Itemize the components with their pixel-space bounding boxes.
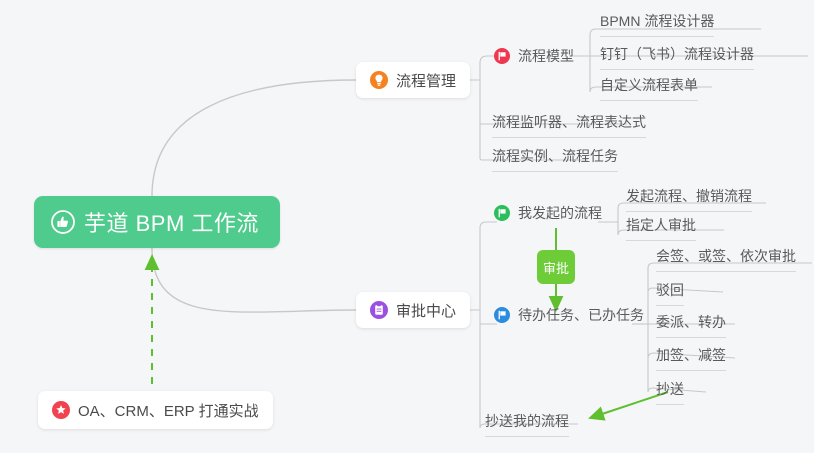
- mindmap-canvas: 芋道 BPM 工作流 流程管理 流程模型 BPMN 流程设计器 钉钉（飞书: [0, 0, 814, 453]
- root-node[interactable]: 芋道 BPM 工作流: [34, 196, 280, 248]
- lightbulb-icon: [370, 71, 388, 89]
- root-label: 芋道 BPM 工作流: [84, 206, 259, 238]
- leaf-label: 钉钉（飞书）流程设计器: [600, 44, 754, 64]
- node-todo-done-tasks[interactable]: 待办任务、已办任务: [494, 305, 644, 330]
- branch-approval-center[interactable]: 审批中心: [356, 292, 470, 328]
- node-label: 流程模型: [518, 46, 574, 66]
- leaf-assigned-approver[interactable]: 指定人审批: [626, 215, 696, 241]
- branch-label: 审批中心: [396, 300, 456, 321]
- leaf-label: 发起流程、撤销流程: [626, 186, 752, 206]
- leaf-label: 流程监听器、流程表达式: [492, 112, 646, 132]
- leaf-dingtalk-designer[interactable]: 钉钉（飞书）流程设计器: [600, 44, 754, 70]
- leaf-label: 加签、减签: [656, 345, 726, 365]
- leaf-bpmn-designer[interactable]: BPMN 流程设计器: [600, 11, 714, 37]
- node-my-started-processes[interactable]: 我发起的流程: [494, 203, 602, 228]
- bottom-note-card[interactable]: OA、CRM、ERP 打通实战: [38, 391, 273, 429]
- leaf-delegate-transfer[interactable]: 委派、转办: [656, 312, 726, 338]
- leaf-label: 会签、或签、依次审批: [656, 246, 796, 266]
- leaf-label: 抄送: [656, 379, 684, 399]
- leaf-countersign[interactable]: 会签、或签、依次审批: [656, 246, 796, 272]
- bottom-note-label: OA、CRM、ERP 打通实战: [78, 400, 259, 421]
- flag-blue-icon: [494, 307, 510, 323]
- leaf-process-listener[interactable]: 流程监听器、流程表达式: [492, 112, 646, 138]
- leaf-label: 指定人审批: [626, 215, 696, 235]
- leaf-label: 流程实例、流程任务: [492, 146, 618, 166]
- branch-process-management[interactable]: 流程管理: [356, 62, 470, 98]
- leaf-add-remove-sign[interactable]: 加签、减签: [656, 345, 726, 371]
- leaf-label: 委派、转办: [656, 312, 726, 332]
- leaf-label: 自定义流程表单: [600, 75, 698, 95]
- node-process-model[interactable]: 流程模型: [494, 46, 574, 71]
- flag-red-icon: [494, 48, 510, 64]
- leaf-label: 抄送我的流程: [485, 411, 569, 431]
- leaf-cc[interactable]: 抄送: [656, 379, 684, 405]
- leaf-custom-form[interactable]: 自定义流程表单: [600, 75, 698, 101]
- approval-chip: 审批: [537, 250, 575, 284]
- thumbs-up-icon: [51, 210, 75, 234]
- flag-green-icon: [494, 205, 510, 221]
- approval-chip-label: 审批: [543, 258, 569, 277]
- leaf-cc-to-me[interactable]: 抄送我的流程: [485, 411, 569, 437]
- leaf-label: 驳回: [656, 280, 684, 300]
- star-icon: [52, 401, 70, 419]
- leaf-reject[interactable]: 驳回: [656, 280, 684, 306]
- leaf-label: BPMN 流程设计器: [600, 11, 714, 31]
- branch-label: 流程管理: [396, 70, 456, 91]
- leaf-start-cancel-process[interactable]: 发起流程、撤销流程: [626, 186, 752, 212]
- node-label: 待办任务、已办任务: [518, 305, 644, 325]
- node-label: 我发起的流程: [518, 203, 602, 223]
- leaf-process-instance[interactable]: 流程实例、流程任务: [492, 146, 618, 172]
- clipboard-icon: [370, 301, 388, 319]
